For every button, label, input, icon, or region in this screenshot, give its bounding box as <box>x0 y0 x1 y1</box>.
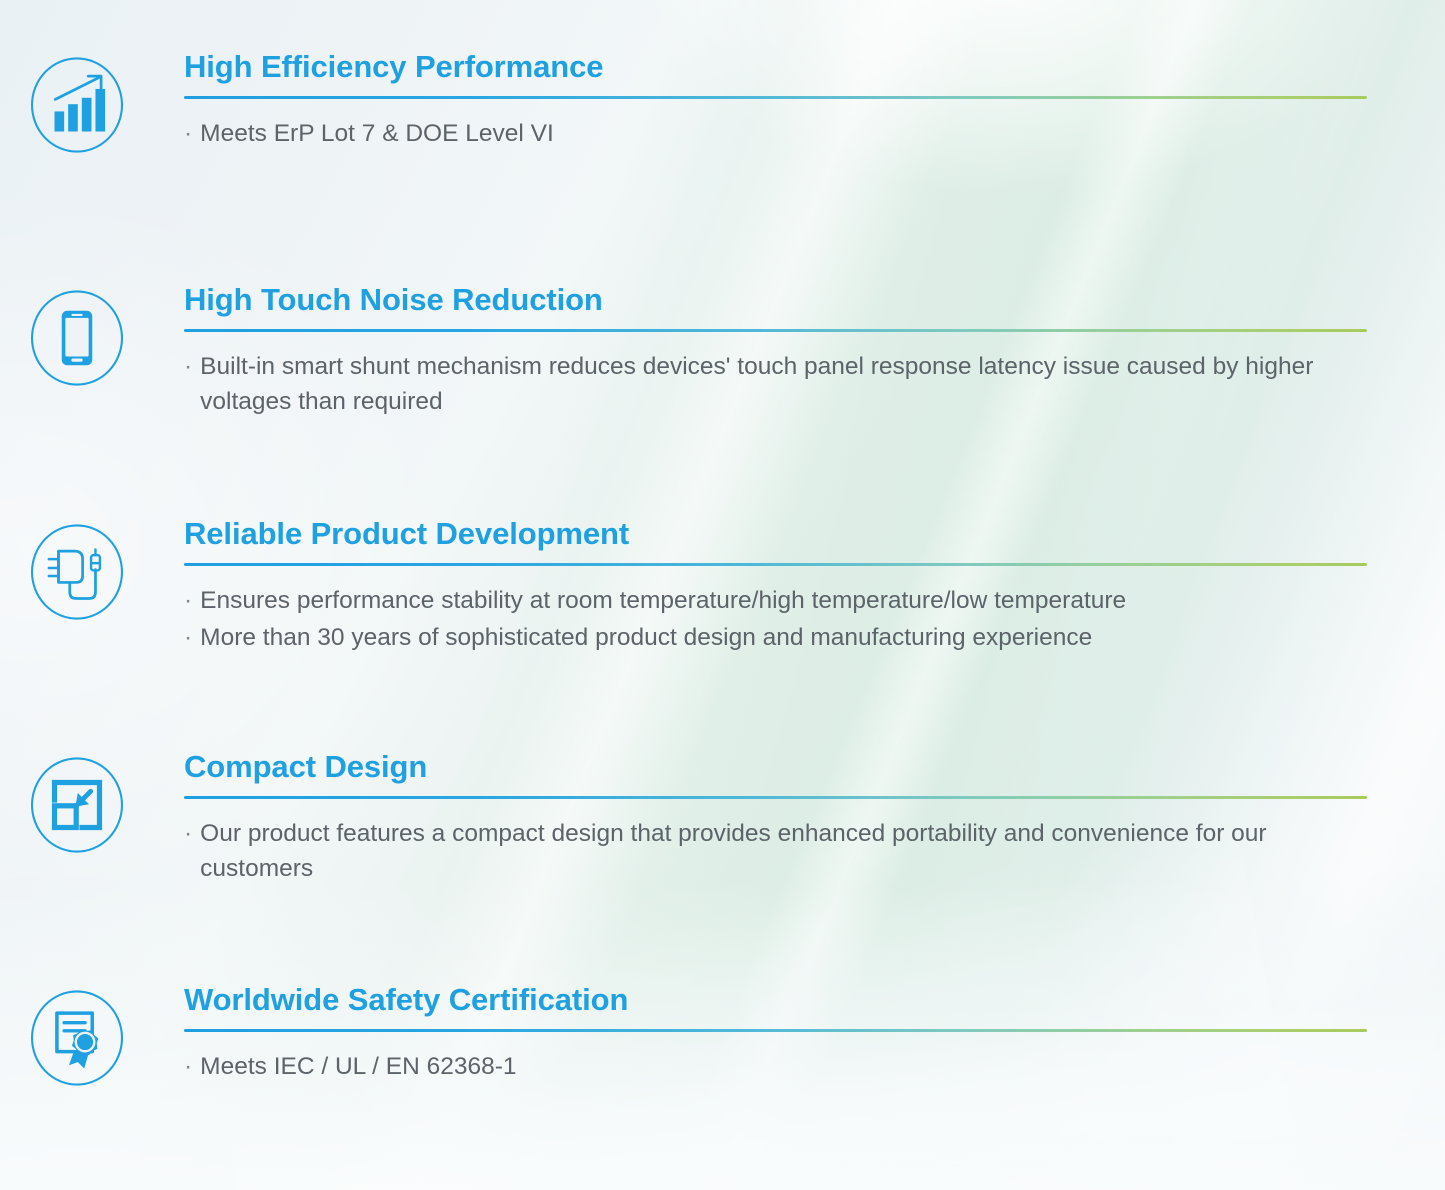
feature-divider <box>184 329 1367 332</box>
bullet-text: More than 30 years of sophisticated prod… <box>200 620 1367 656</box>
feature-bullet-list: · Built-in smart shunt mechanism reduces… <box>184 349 1367 420</box>
bullet-marker: · <box>184 1049 192 1085</box>
certificate-award-icon <box>28 977 126 1099</box>
feature-bullet: · More than 30 years of sophisticated pr… <box>184 620 1367 656</box>
growth-bar-chart-icon <box>28 44 126 166</box>
feature-bullet: · Meets ErP Lot 7 & DOE Level VI <box>184 116 1367 152</box>
feature-divider <box>184 96 1367 99</box>
feature-body: High Efficiency Performance · Meets ErP … <box>126 44 1445 153</box>
bullet-marker: · <box>184 116 192 152</box>
bullet-text: Meets IEC / UL / EN 62368-1 <box>200 1049 1367 1085</box>
feature-divider <box>184 1029 1367 1032</box>
feature-icon-slot <box>0 511 126 633</box>
feature-bullet: · Meets IEC / UL / EN 62368-1 <box>184 1049 1367 1085</box>
feature-body: Compact Design · Our product features a … <box>126 744 1445 889</box>
feature-icon-slot <box>0 977 126 1099</box>
feature-title: High Efficiency Performance <box>184 50 1367 85</box>
feature-bullet: · Our product features a compact design … <box>184 816 1367 887</box>
feature-item: High Efficiency Performance · Meets ErP … <box>0 44 1445 166</box>
feature-item: High Touch Noise Reduction · Built-in sm… <box>0 277 1445 422</box>
feature-bullet: · Built-in smart shunt mechanism reduces… <box>184 349 1367 420</box>
feature-title: High Touch Noise Reduction <box>184 283 1367 318</box>
feature-item: Worldwide Safety Certification · Meets I… <box>0 977 1445 1099</box>
bullet-marker: · <box>184 620 192 656</box>
feature-bullet-list: · Ensures performance stability at room … <box>184 583 1367 656</box>
feature-icon-slot <box>0 744 126 866</box>
bullet-marker: · <box>184 816 192 852</box>
feature-title: Worldwide Safety Certification <box>184 983 1367 1018</box>
feature-icon-slot <box>0 44 126 166</box>
feature-bullet: · Ensures performance stability at room … <box>184 583 1367 619</box>
feature-highlights-page: High Efficiency Performance · Meets ErP … <box>0 0 1445 1190</box>
feature-divider <box>184 796 1367 799</box>
bullet-marker: · <box>184 349 192 385</box>
feature-body: High Touch Noise Reduction · Built-in sm… <box>126 277 1445 422</box>
compact-resize-icon <box>28 744 126 866</box>
power-adapter-icon <box>28 511 126 633</box>
feature-bullet-list: · Our product features a compact design … <box>184 816 1367 887</box>
bullet-marker: · <box>184 583 192 619</box>
bullet-text: Built-in smart shunt mechanism reduces d… <box>200 349 1367 420</box>
bullet-text: Our product features a compact design th… <box>200 816 1367 887</box>
feature-item: Reliable Product Development · Ensures p… <box>0 511 1445 658</box>
feature-bullet-list: · Meets IEC / UL / EN 62368-1 <box>184 1049 1367 1085</box>
feature-title: Compact Design <box>184 750 1367 785</box>
feature-bullet-list: · Meets ErP Lot 7 & DOE Level VI <box>184 116 1367 152</box>
feature-icon-slot <box>0 277 126 399</box>
feature-item: Compact Design · Our product features a … <box>0 744 1445 889</box>
feature-body: Reliable Product Development · Ensures p… <box>126 511 1445 658</box>
feature-divider <box>184 563 1367 566</box>
feature-title: Reliable Product Development <box>184 517 1367 552</box>
bullet-text: Ensures performance stability at room te… <box>200 583 1367 619</box>
bullet-text: Meets ErP Lot 7 & DOE Level VI <box>200 116 1367 152</box>
feature-list: High Efficiency Performance · Meets ErP … <box>0 0 1445 1190</box>
smartphone-icon <box>28 277 126 399</box>
feature-body: Worldwide Safety Certification · Meets I… <box>126 977 1445 1086</box>
